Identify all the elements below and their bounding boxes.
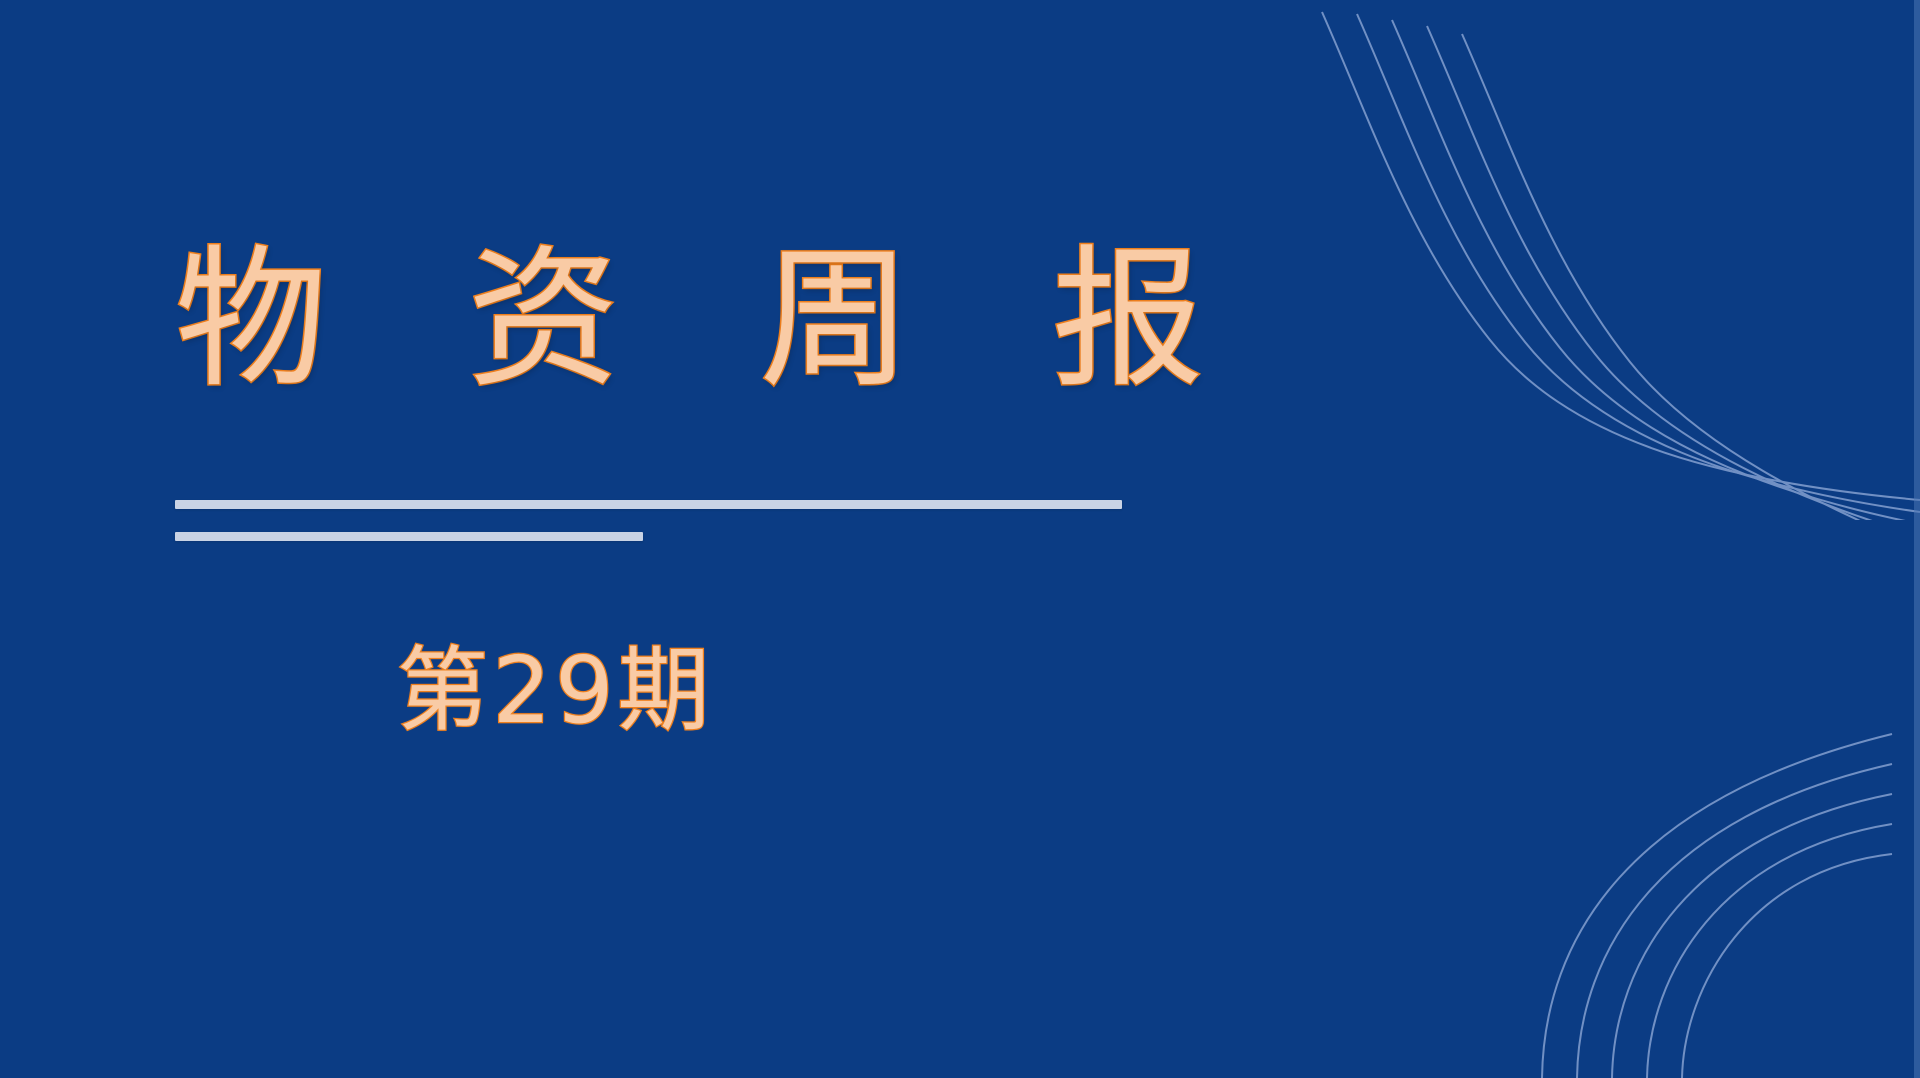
page-title: 物 资 周 报 <box>175 238 1175 402</box>
title-rule-long <box>175 500 1122 509</box>
issue-subtitle: 第29期 <box>175 636 935 746</box>
wave-lines-top-right-icon <box>1300 0 1920 520</box>
arc-lines-bottom-right-icon <box>1520 608 1920 1078</box>
cover-slide: 物 资 周 报 第29期 <box>0 0 1920 1078</box>
edge-strip <box>1914 0 1920 1078</box>
title-rule-short <box>175 532 643 541</box>
title-block: 物 资 周 报 <box>175 238 1175 402</box>
